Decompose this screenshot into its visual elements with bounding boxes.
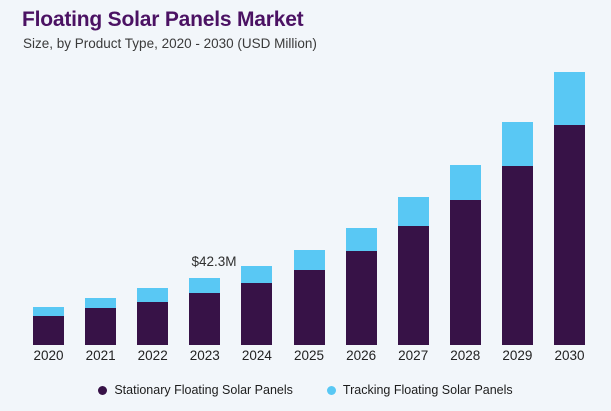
bar-stack-2028[interactable] [450,165,481,345]
bar-segment-stationary-2023[interactable] [189,293,220,345]
x-tick-label-2023: 2023 [190,348,220,363]
legend-item-stationary[interactable]: Stationary Floating Solar Panels [98,383,293,397]
bar-segment-tracking-2025[interactable] [294,250,325,270]
bar-stack-2024[interactable] [241,266,272,345]
chart-container: Floating Solar Panels Market Size, by Pr… [0,0,611,411]
bar-segment-stationary-2030[interactable] [554,125,585,345]
bar-segment-stationary-2029[interactable] [502,166,533,345]
bar-segment-stationary-2025[interactable] [294,270,325,345]
x-tick-label-2021: 2021 [86,348,116,363]
bar-stack-2023[interactable] [189,278,220,345]
bar-stack-2020[interactable] [33,307,64,345]
legend-item-tracking[interactable]: Tracking Floating Solar Panels [327,383,513,397]
bar-segment-stationary-2022[interactable] [137,302,168,345]
legend-circle-icon [98,386,107,395]
bar-segment-tracking-2023[interactable] [189,278,220,293]
x-tick-label-2028: 2028 [450,348,480,363]
bar-stack-2025[interactable] [294,250,325,345]
legend-circle-icon [327,386,336,395]
bar-segment-stationary-2020[interactable] [33,316,64,345]
bar-stack-2026[interactable] [346,228,377,345]
x-tick-label-2020: 2020 [33,348,63,363]
bar-segment-tracking-2024[interactable] [241,266,272,283]
bar-stack-2029[interactable] [502,122,533,345]
data-label-annotation-2023: $42.3M [191,254,236,269]
x-tick-label-2024: 2024 [242,348,272,363]
bar-segment-tracking-2027[interactable] [398,197,429,226]
bar-segment-stationary-2028[interactable] [450,200,481,345]
x-tick-label-2022: 2022 [138,348,168,363]
x-tick-label-2027: 2027 [398,348,428,363]
bar-segment-stationary-2024[interactable] [241,283,272,345]
bar-segment-tracking-2022[interactable] [137,288,168,302]
bar-stack-2022[interactable] [137,288,168,345]
bar-segment-tracking-2020[interactable] [33,307,64,316]
x-tick-label-2030: 2030 [554,348,584,363]
legend-label: Tracking Floating Solar Panels [343,383,513,397]
x-tick-label-2029: 2029 [502,348,532,363]
plot-area [0,0,611,345]
x-axis: 2020202120222023202420252026202720282029… [0,348,611,372]
bar-segment-tracking-2030[interactable] [554,72,585,125]
bar-stack-2021[interactable] [85,298,116,345]
bar-stack-2027[interactable] [398,197,429,345]
bar-stack-2030[interactable] [554,72,585,345]
bar-segment-tracking-2021[interactable] [85,298,116,308]
x-tick-label-2026: 2026 [346,348,376,363]
bar-segment-stationary-2021[interactable] [85,308,116,345]
bar-segment-stationary-2027[interactable] [398,226,429,345]
bar-segment-tracking-2029[interactable] [502,122,533,166]
bar-segment-tracking-2026[interactable] [346,228,377,251]
legend-label: Stationary Floating Solar Panels [114,383,293,397]
bar-segment-tracking-2028[interactable] [450,165,481,200]
x-tick-label-2025: 2025 [294,348,324,363]
bar-segment-stationary-2026[interactable] [346,251,377,345]
chart-legend: Stationary Floating Solar PanelsTracking… [0,383,611,397]
